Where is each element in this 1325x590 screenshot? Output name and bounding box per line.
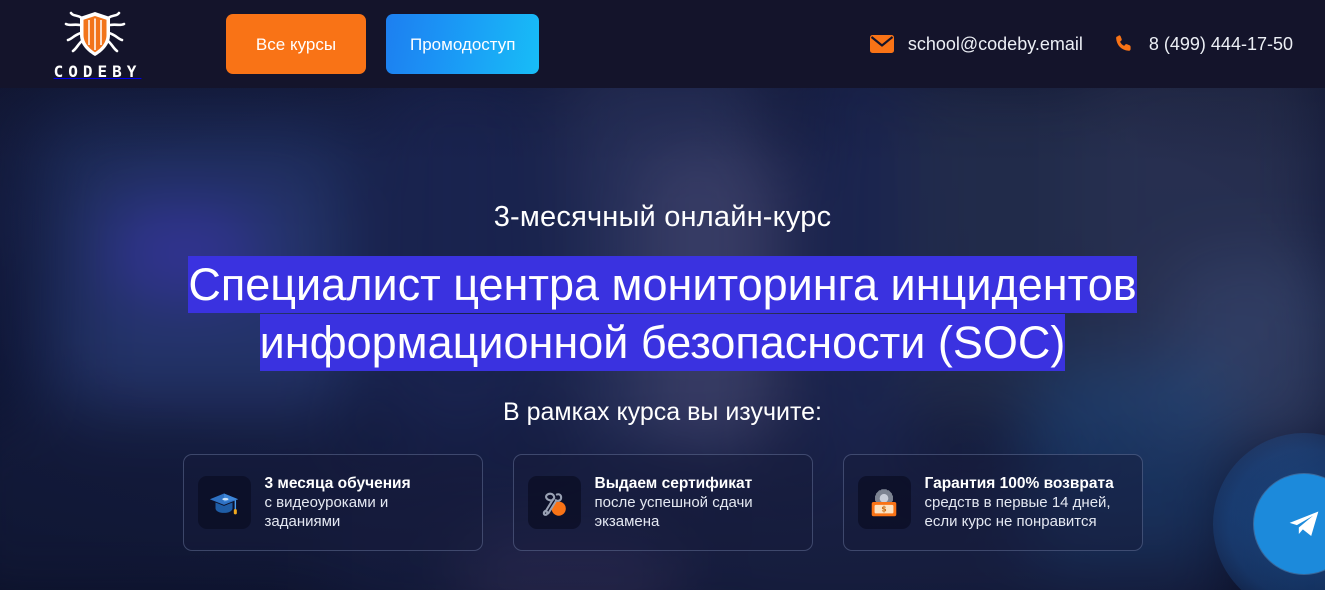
- hero-headline-line-1: Специалист центра мониторинга инцидентов: [188, 256, 1136, 313]
- hero-section: 3-месячный онлайн-курс Специалист центра…: [0, 88, 1325, 590]
- codeby-spider-shield-icon: [64, 9, 126, 61]
- phone-contact[interactable]: 8 (499) 444-17-50: [1113, 33, 1293, 55]
- svg-text:$: $: [881, 504, 886, 513]
- phone-icon: [1113, 33, 1135, 55]
- all-courses-button[interactable]: Все курсы: [226, 14, 366, 74]
- award-rosette-icon: [528, 476, 581, 529]
- feature-card-desc: с видеоуроками и заданиями: [265, 493, 468, 531]
- logo-link[interactable]: CODEBY: [0, 0, 190, 88]
- page-root: CODEBY Все курсы Промодоступ school@code…: [0, 0, 1325, 590]
- header-contacts: school@codeby.email 8 (499) 444-17-50: [870, 33, 1325, 55]
- feature-card: Выдаем сертификат после успешной сдачи э…: [513, 454, 813, 551]
- email-text: school@codeby.email: [908, 34, 1083, 55]
- feature-card-title: Гарантия 100% возврата: [925, 474, 1128, 493]
- feature-card-title: Выдаем сертификат: [595, 474, 798, 493]
- envelope-icon: [870, 35, 894, 53]
- hero-subhead: В рамках курса вы изучите:: [503, 400, 822, 425]
- money-back-icon: $: [858, 476, 911, 529]
- feature-cards: 3 месяца обучения с видеоуроками и задан…: [183, 454, 1143, 551]
- telegram-fab-wrapper: [1213, 433, 1325, 590]
- email-contact[interactable]: school@codeby.email: [870, 34, 1083, 55]
- graduation-cap-icon: [198, 476, 251, 529]
- feature-card-text: Гарантия 100% возврата средств в первые …: [925, 474, 1128, 531]
- feature-card-desc: средств в первые 14 дней, если курс не п…: [925, 493, 1128, 531]
- header-nav: Все курсы Промодоступ: [226, 14, 539, 74]
- feature-card-desc: после успешной сдачи экзамена: [595, 493, 798, 531]
- site-header: CODEBY Все курсы Промодоступ school@code…: [0, 0, 1325, 88]
- hero-headline-line-2: информационной безопасности (SOC): [260, 314, 1066, 371]
- hero-eyebrow: 3-месячный онлайн-курс: [494, 203, 832, 232]
- phone-text: 8 (499) 444-17-50: [1149, 34, 1293, 55]
- feature-card-text: 3 месяца обучения с видеоуроками и задан…: [265, 474, 468, 531]
- feature-card: $ Гарантия 100% возврата средств в первы…: [843, 454, 1143, 551]
- hero-content: 3-месячный онлайн-курс Специалист центра…: [0, 88, 1325, 590]
- telegram-paper-plane-icon: [1281, 501, 1325, 547]
- logo-wordmark: CODEBY: [49, 64, 142, 80]
- feature-card-title: 3 месяца обучения: [265, 474, 468, 493]
- promo-access-button[interactable]: Промодоступ: [386, 14, 539, 74]
- feature-card-text: Выдаем сертификат после успешной сдачи э…: [595, 474, 798, 531]
- feature-card: 3 месяца обучения с видеоуроками и задан…: [183, 454, 483, 551]
- hero-headline: Специалист центра мониторинга инцидентов…: [83, 256, 1243, 372]
